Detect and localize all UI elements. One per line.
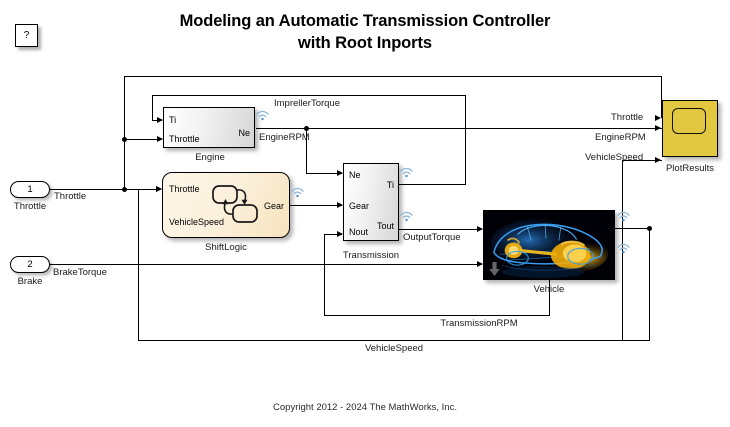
wire-impreller-top-h (152, 95, 466, 96)
signal-logging-icon-engine-ne (256, 110, 269, 121)
arrow-plotresults-enginerpm-in (655, 125, 661, 131)
block-vehicle[interactable] (483, 210, 615, 280)
transmission-port-tout: Tout (377, 222, 394, 231)
inport-brake-number: 2 (27, 259, 32, 270)
help-block[interactable]: ? (15, 24, 38, 47)
signal-logging-icon-transmission-tout (400, 211, 413, 222)
wire-gear-h (290, 205, 342, 206)
plotresults-input-label-vehiclespeed: VehicleSpeed (585, 153, 643, 163)
block-vehicle-label: Vehicle (483, 285, 615, 295)
wire-outputtorque-h (399, 229, 482, 230)
page-title-line-1: Modeling an Automatic Transmission Contr… (0, 11, 730, 33)
signal-label-throttle-inport: Throttle (54, 192, 86, 202)
download-arrow-icon (488, 261, 501, 277)
stateflow-chart-icon (209, 183, 265, 231)
wire-transmissionrpm-bottom-h (324, 315, 550, 316)
transmission-port-gear: Gear (349, 202, 369, 211)
transmission-port-ti: Ti (387, 181, 394, 190)
wire-throttle-from-inport-h (48, 189, 160, 190)
shiftlogic-port-throttle: Throttle (169, 185, 200, 194)
question-mark-icon: ? (16, 25, 37, 46)
wire-impreller-right-v (465, 95, 466, 184)
page-title: Modeling an Automatic Transmission Contr… (0, 11, 730, 55)
arrow-plotresults-vehiclespeed-in (655, 157, 661, 163)
block-shiftlogic-label: ShiftLogic (162, 243, 290, 253)
signal-logging-icon-vehicle-out2 (617, 243, 630, 254)
inport-brake-label: Brake (0, 277, 60, 287)
signal-label-imprellertorque: ImprellerTorque (251, 99, 363, 109)
simulink-model-canvas: Modeling an Automatic Transmission Contr… (0, 0, 730, 427)
signal-label-enginerpm: EngineRPM (259, 133, 310, 143)
wire-braketorque-h (48, 264, 482, 265)
wire-vehicle-out1-h (615, 228, 650, 229)
wire-throttle-top-h (124, 76, 662, 77)
signal-label-transmissionrpm: TransmissionRPM (423, 319, 535, 329)
block-plotresults-label: PlotResults (655, 164, 725, 174)
plotresults-input-label-enginerpm: EngineRPM (595, 133, 646, 143)
signal-label-outputtorque: OutputTorque (403, 233, 461, 243)
wire-vehiclespeed-right-v (649, 228, 650, 340)
shiftlogic-port-gear: Gear (264, 202, 284, 211)
signal-logging-icon-shiftlogic-gear (291, 187, 304, 198)
plotresults-input-label-throttle: Throttle (611, 113, 643, 123)
block-engine-label: Engine (164, 153, 256, 163)
inport-throttle[interactable]: 1 (10, 181, 50, 198)
wire-throttle-riser-v (124, 76, 125, 190)
wireframe-car-image (484, 211, 614, 280)
engine-port-ti: Ti (169, 116, 176, 125)
block-transmission[interactable]: Ne Gear Nout Ti Tout (343, 163, 399, 241)
block-transmission-label: Transmission (325, 251, 417, 261)
signal-logging-icon-transmission-ti (400, 167, 413, 178)
signal-logging-icon-vehicle-out1 (617, 211, 630, 222)
junction-throttle-shiftlogic (122, 187, 127, 192)
signal-label-vehiclespeed: VehicleSpeed (338, 344, 450, 354)
block-plotresults[interactable] (662, 100, 718, 157)
copyright-text: Copyright 2012 - 2024 The MathWorks, Inc… (0, 402, 730, 413)
block-engine[interactable]: Ti Throttle Ne (163, 107, 255, 148)
inport-brake[interactable]: 2 (10, 256, 50, 273)
transmission-port-nout: Nout (349, 228, 368, 237)
scope-screen-icon (672, 108, 706, 134)
wire-vehiclespeed-bottom-h (138, 340, 650, 341)
inport-throttle-label: Throttle (0, 202, 60, 212)
inport-throttle-number: 1 (27, 184, 32, 195)
signal-label-braketorque: BrakeTorque (53, 268, 107, 278)
wire-vehiclespeed-left-v (138, 189, 139, 341)
engine-port-throttle: Throttle (169, 135, 200, 144)
junction-throttle-engine (122, 137, 127, 142)
wire-impreller-left-v (152, 95, 153, 120)
engine-port-ne: Ne (238, 129, 250, 138)
arrow-plotresults-throttle-in (655, 115, 661, 121)
page-title-line-2: with Root Inports (0, 33, 730, 55)
wire-impreller-from-ti-h (399, 184, 466, 185)
block-shiftlogic[interactable]: Throttle VehicleSpeed Gear (162, 172, 290, 238)
wire-transmissionrpm-left-v (324, 234, 325, 316)
wire-enginerpm-main-h (256, 128, 662, 129)
transmission-port-ne: Ne (349, 171, 361, 180)
